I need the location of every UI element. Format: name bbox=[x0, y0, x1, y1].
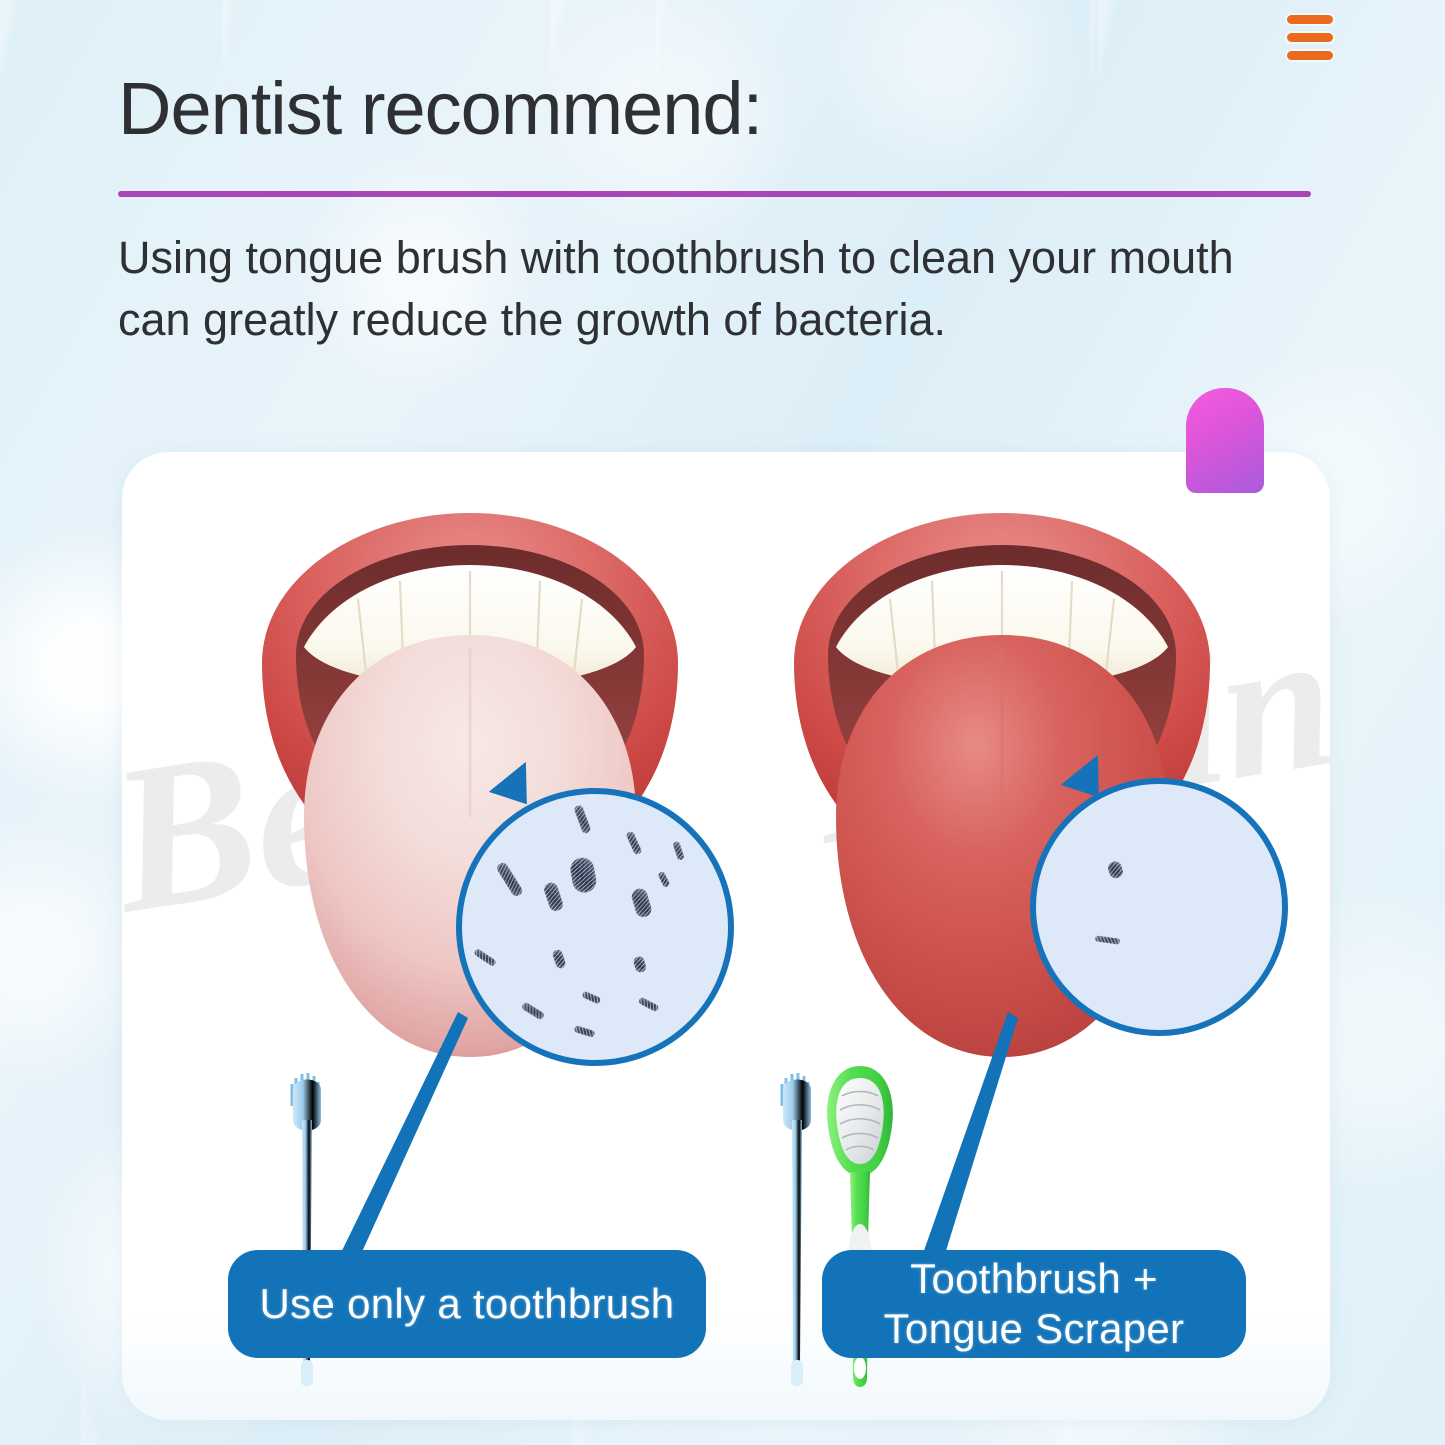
label-pill-toothbrush-only[interactable]: Use only a toothbrush bbox=[228, 1250, 706, 1358]
gradient-pill-badge bbox=[1186, 388, 1264, 493]
hamburger-menu-icon[interactable] bbox=[1287, 14, 1333, 60]
magnifier-bacteria-few bbox=[1030, 778, 1288, 1036]
magnifier-bacteria-many bbox=[456, 788, 734, 1066]
label-line-2: Tongue Scraper bbox=[884, 1305, 1185, 1352]
hamburger-bar-1 bbox=[1287, 15, 1333, 24]
title-divider bbox=[118, 191, 1311, 197]
label-pill-toothbrush-scraper[interactable]: Toothbrush + Tongue Scraper bbox=[822, 1250, 1246, 1358]
page-title: Dentist recommend: bbox=[118, 72, 1318, 146]
label-line-1: Toothbrush + bbox=[910, 1255, 1158, 1302]
hamburger-bar-3 bbox=[1287, 51, 1333, 60]
label-pill-text: Use only a toothbrush bbox=[260, 1279, 675, 1329]
page-subtitle: Using tongue brush with toothbrush to cl… bbox=[118, 227, 1318, 351]
hamburger-bar-2 bbox=[1287, 33, 1333, 42]
label-pill-text: Toothbrush + Tongue Scraper bbox=[884, 1254, 1185, 1353]
